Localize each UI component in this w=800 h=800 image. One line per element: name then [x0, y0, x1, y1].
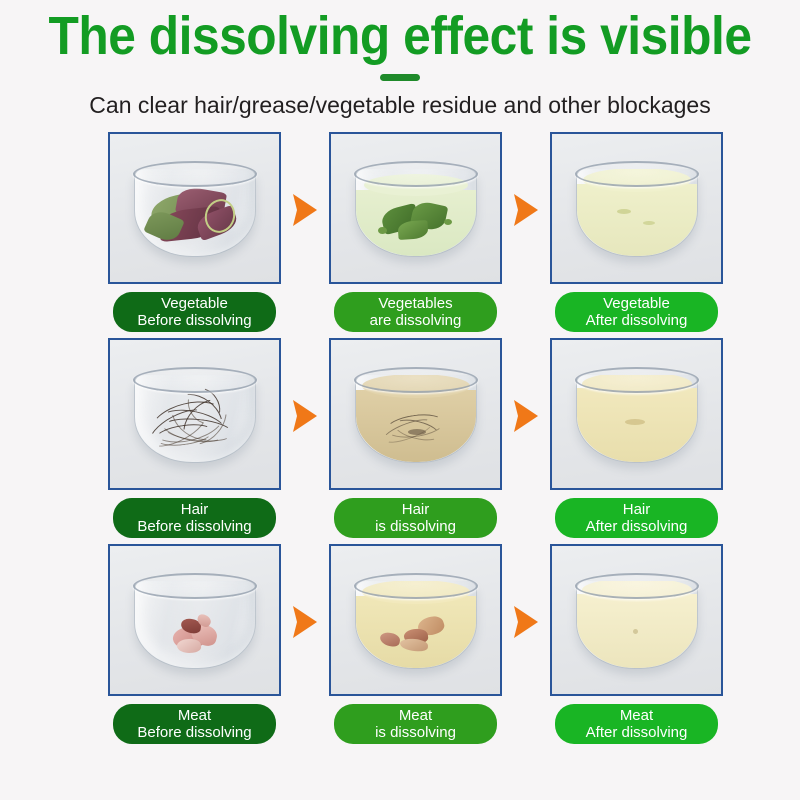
- photo-hair-after: [550, 338, 723, 490]
- label-vegetable-after: Vegetable After dissolving: [555, 292, 718, 332]
- bowl-rim: [133, 573, 257, 599]
- arrow-slot: [281, 338, 329, 493]
- cell-meat-before: Meat Before dissolving: [108, 544, 281, 744]
- vegetable-speck: [378, 227, 387, 234]
- label-meat-after: Meat After dissolving: [555, 704, 718, 744]
- cell-meat-after: Meat After dissolving: [550, 544, 723, 744]
- divider-dash: [380, 74, 420, 81]
- label-vegetable-before: Vegetable Before dissolving: [113, 292, 276, 332]
- cell-hair-during: Hair is dissolving: [329, 338, 502, 538]
- title-divider: [0, 66, 800, 88]
- triangle-right-arrow-icon: [512, 193, 540, 227]
- glass-bowl: [134, 365, 256, 469]
- bowl-rim: [575, 161, 699, 187]
- glass-bowl: [576, 365, 698, 469]
- photo-meat-before: [108, 544, 281, 696]
- bowl-rim: [575, 573, 699, 599]
- liquid-fill: [577, 184, 697, 256]
- residue-speck: [633, 629, 638, 634]
- row-hair: Hair Before dissolving: [108, 338, 692, 538]
- label-text-line1: Vegetable: [161, 295, 228, 312]
- label-text-line2: are dissolving: [370, 312, 462, 329]
- cell-vegetable-before: Vegetable Before dissolving: [108, 132, 281, 332]
- row-vegetable: Vegetable Before dissolving: [108, 132, 692, 332]
- arrow-slot: [281, 132, 329, 287]
- triangle-right-arrow-icon: [291, 399, 319, 433]
- photo-vegetable-after: [550, 132, 723, 284]
- cell-vegetable-during: Vegetables are dissolving: [329, 132, 502, 332]
- label-text-line2: is dissolving: [375, 724, 456, 741]
- arrow-slot: [281, 544, 329, 699]
- hair-residue-speck: [408, 429, 426, 435]
- label-text-line1: Hair: [181, 501, 209, 518]
- label-text-line1: Meat: [399, 707, 432, 724]
- bowl-rim: [575, 367, 699, 393]
- triangle-right-arrow-icon: [291, 605, 319, 639]
- row-meat: Meat Before dissolving: [108, 544, 692, 744]
- glass-bowl: [576, 159, 698, 263]
- arrow-slot: [502, 338, 550, 493]
- label-text-line1: Vegetable: [603, 295, 670, 312]
- bowl-rim: [354, 367, 478, 393]
- label-text-line2: Before dissolving: [137, 312, 251, 329]
- cell-hair-after: Hair After dissolving: [550, 338, 723, 538]
- label-text-line1: Hair: [402, 501, 430, 518]
- label-text-line2: After dissolving: [586, 518, 688, 535]
- meat-chunk: [176, 638, 201, 654]
- label-text-line1: Vegetables: [378, 295, 452, 312]
- page-title: The dissolving effect is visible: [32, 6, 768, 66]
- label-text-line1: Hair: [623, 501, 651, 518]
- page-subtitle: Can clear hair/grease/vegetable residue …: [0, 90, 800, 120]
- label-hair-after: Hair After dissolving: [555, 498, 718, 538]
- glass-bowl: [355, 365, 477, 469]
- glass-bowl: [134, 571, 256, 675]
- photo-meat-during: [329, 544, 502, 696]
- bowl-rim: [354, 161, 478, 187]
- label-text-line1: Meat: [620, 707, 653, 724]
- bowl-rim: [354, 573, 478, 599]
- photo-hair-during: [329, 338, 502, 490]
- glass-bowl: [134, 159, 256, 263]
- label-text-line2: is dissolving: [375, 518, 456, 535]
- photo-vegetable-before: [108, 132, 281, 284]
- photo-meat-after: [550, 544, 723, 696]
- label-text-line2: Before dissolving: [137, 518, 251, 535]
- arrow-slot: [502, 132, 550, 287]
- label-meat-before: Meat Before dissolving: [113, 704, 276, 744]
- bowl-rim: [133, 367, 257, 393]
- glass-bowl: [355, 571, 477, 675]
- photo-hair-before: [108, 338, 281, 490]
- glass-bowl: [576, 571, 698, 675]
- label-hair-before: Hair Before dissolving: [113, 498, 276, 538]
- header: The dissolving effect is visible Can cle…: [0, 0, 800, 120]
- label-text-line2: Before dissolving: [137, 724, 251, 741]
- label-text-line1: Meat: [178, 707, 211, 724]
- bowl-rim: [133, 161, 257, 187]
- arrow-slot: [502, 544, 550, 699]
- label-hair-during: Hair is dissolving: [334, 498, 497, 538]
- cell-hair-before: Hair Before dissolving: [108, 338, 281, 538]
- residue-speck: [617, 209, 631, 214]
- vegetable-speck: [444, 219, 452, 225]
- liquid-fill: [577, 388, 697, 462]
- residue-speck: [625, 419, 645, 425]
- label-text-line2: After dissolving: [586, 312, 688, 329]
- triangle-right-arrow-icon: [512, 605, 540, 639]
- triangle-right-arrow-icon: [291, 193, 319, 227]
- photo-vegetable-during: [329, 132, 502, 284]
- label-text-line2: After dissolving: [586, 724, 688, 741]
- label-meat-during: Meat is dissolving: [334, 704, 497, 744]
- cell-meat-during: Meat is dissolving: [329, 544, 502, 744]
- glass-bowl: [355, 159, 477, 263]
- comparison-grid: Vegetable Before dissolving: [0, 132, 800, 744]
- residue-speck: [643, 221, 655, 225]
- cell-vegetable-after: Vegetable After dissolving: [550, 132, 723, 332]
- triangle-right-arrow-icon: [512, 399, 540, 433]
- label-vegetable-during: Vegetables are dissolving: [334, 292, 497, 332]
